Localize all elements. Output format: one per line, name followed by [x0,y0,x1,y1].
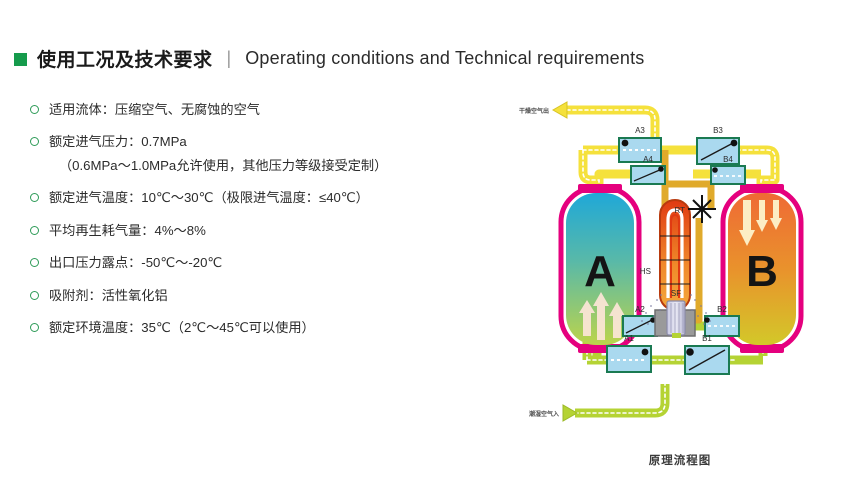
outlet-arrow-icon [553,102,567,118]
tank-a-label: A [584,247,616,296]
bullet-circle-icon [30,193,39,202]
bullet-circle-icon [30,137,39,146]
specifications-list: 适用流体：压缩空气、无腐蚀的空气 额定进气压力：0.7MPa （0.6MPa～1… [30,100,500,351]
header-title-cn: 使用工况及技术要求 [37,45,213,72]
bullet-circle-icon [30,226,39,235]
spec-text: 额定进气温度：10℃～30℃（极限进气温度：≤40℃） [49,188,369,208]
valve-b3-label: B3 [713,126,723,135]
slide-page: 使用工况及技术要求 | Operating conditions and Tec… [0,0,850,490]
spec-subtext: （0.6MPa～1.0MPa允许使用，其他压力等级接受定制） [49,156,387,176]
list-item: 适用流体：压缩空气、无腐蚀的空气 [30,100,500,120]
valve-a3-label: A3 [635,126,645,135]
bullet-circle-icon [30,323,39,332]
inlet-label: 潮湿空气入 [529,410,559,418]
heater-label: HS [640,267,651,276]
bullet-circle-icon [30,105,39,114]
header-title-en: Operating conditions and Technical requi… [245,48,644,69]
bullet-circle-icon [30,258,39,267]
spec-text: 吸附剂：活性氧化铝 [49,286,168,306]
list-item: 额定环境温度：35℃（2℃～45℃可以使用） [30,318,500,338]
spec-text: 出口压力露点：-50℃～-20℃ [49,253,222,273]
process-flow-diagram: 干燥空气出 潮湿空气入 A B [515,88,845,488]
list-item: 平均再生耗气量：4%～8% [30,221,500,241]
section-header: 使用工况及技术要求 | Operating conditions and Tec… [14,45,645,72]
valve-b1-label: B1 [702,334,712,343]
list-item: 吸附剂：活性氧化铝 [30,286,500,306]
sf-label: SF [671,289,681,298]
header-separator: | [227,48,232,69]
valve-a1-label: A1 [624,334,634,343]
valve-a2-label: A2 [635,305,645,314]
valve-b4-label: B4 [723,155,733,164]
spec-text: 平均再生耗气量：4%～8% [49,221,206,241]
valve-b2-label: B2 [717,305,727,314]
list-item: 出口压力露点：-50℃～-20℃ [30,253,500,273]
spec-text: 适用流体：压缩空气、无腐蚀的空气 [49,100,260,120]
list-item: 额定进气压力：0.7MPa （0.6MPa～1.0MPa允许使用，其他压力等级接… [30,132,500,176]
spec-text: 额定进气压力：0.7MPa [49,132,387,152]
rt-label: RT [674,206,685,215]
diagram-caption: 原理流程图 [515,452,845,468]
valve-a4-label: A4 [643,155,653,164]
list-item: 额定进气温度：10℃～30℃（极限进气温度：≤40℃） [30,188,500,208]
outlet-label: 干燥空气出 [519,107,549,115]
valve-b1[interactable]: B1 [685,334,729,374]
inlet-arrow-icon [563,405,577,421]
header-bullet-square [14,53,27,66]
spec-text: 额定环境温度：35℃（2℃～45℃可以使用） [49,318,315,338]
tank-b-label: B [746,247,778,296]
bullet-circle-icon [30,291,39,300]
